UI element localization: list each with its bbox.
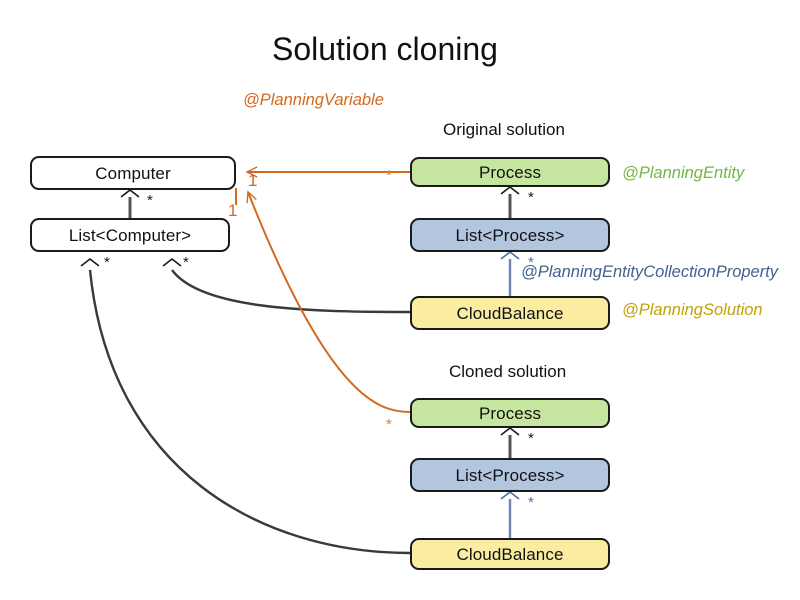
multiplicity-list-computer-left: * — [104, 255, 110, 270]
annotation-planning-variable: @PlanningVariable — [243, 92, 384, 109]
section-header-cloned: Cloned solution — [449, 363, 566, 380]
multiplicity-cloned-process: * — [528, 431, 534, 446]
edge-original-listprocess-to-process — [501, 187, 519, 218]
solution-cloning-diagram: Solution cloning @PlanningVariable @Plan… — [0, 0, 800, 600]
annotation-planning-solution: @PlanningSolution — [622, 302, 763, 319]
node-original-process[interactable]: Process — [410, 157, 610, 187]
edge-original-cloudbalance-to-listcomputer — [163, 259, 410, 312]
multiplicity-cloned-list-process: * — [528, 495, 534, 510]
edge-cloned-listprocess-to-process — [501, 428, 519, 458]
annotation-planning-entity-collection-property: @PlanningEntityCollectionProperty — [521, 264, 778, 281]
node-cloned-cloudbalance[interactable]: CloudBalance — [410, 538, 610, 570]
node-original-cloudbalance[interactable]: CloudBalance — [410, 296, 610, 330]
multiplicity-original-process: * — [528, 190, 534, 205]
node-original-list-process[interactable]: List<Process> — [410, 218, 610, 252]
edge-listcomputer-to-computer — [121, 190, 139, 218]
multiplicity-computer-from-list: * — [147, 193, 153, 208]
page-title: Solution cloning — [272, 33, 498, 65]
edge-cloned-cloudbalance-to-listprocess — [501, 492, 519, 538]
multiplicity-list-computer-right: * — [183, 255, 189, 270]
multiplicity-cloned-variable-star: * — [386, 417, 392, 432]
multiplicity-original-variable-star: * — [386, 168, 392, 183]
node-cloned-list-process[interactable]: List<Process> — [410, 458, 610, 492]
multiplicity-original-variable-one: 1 — [248, 172, 257, 189]
edge-cloned-process-to-computer — [236, 188, 410, 412]
node-list-computer[interactable]: List<Computer> — [30, 218, 230, 252]
multiplicity-cloned-variable-one: 1 — [228, 202, 237, 219]
node-cloned-process[interactable]: Process — [410, 398, 610, 428]
node-computer[interactable]: Computer — [30, 156, 236, 190]
connector-layer — [0, 0, 800, 600]
annotation-planning-entity: @PlanningEntity — [622, 165, 744, 182]
section-header-original: Original solution — [443, 121, 565, 138]
edge-original-cloudbalance-to-listprocess — [501, 252, 519, 296]
multiplicity-original-list-process: * — [528, 255, 534, 270]
